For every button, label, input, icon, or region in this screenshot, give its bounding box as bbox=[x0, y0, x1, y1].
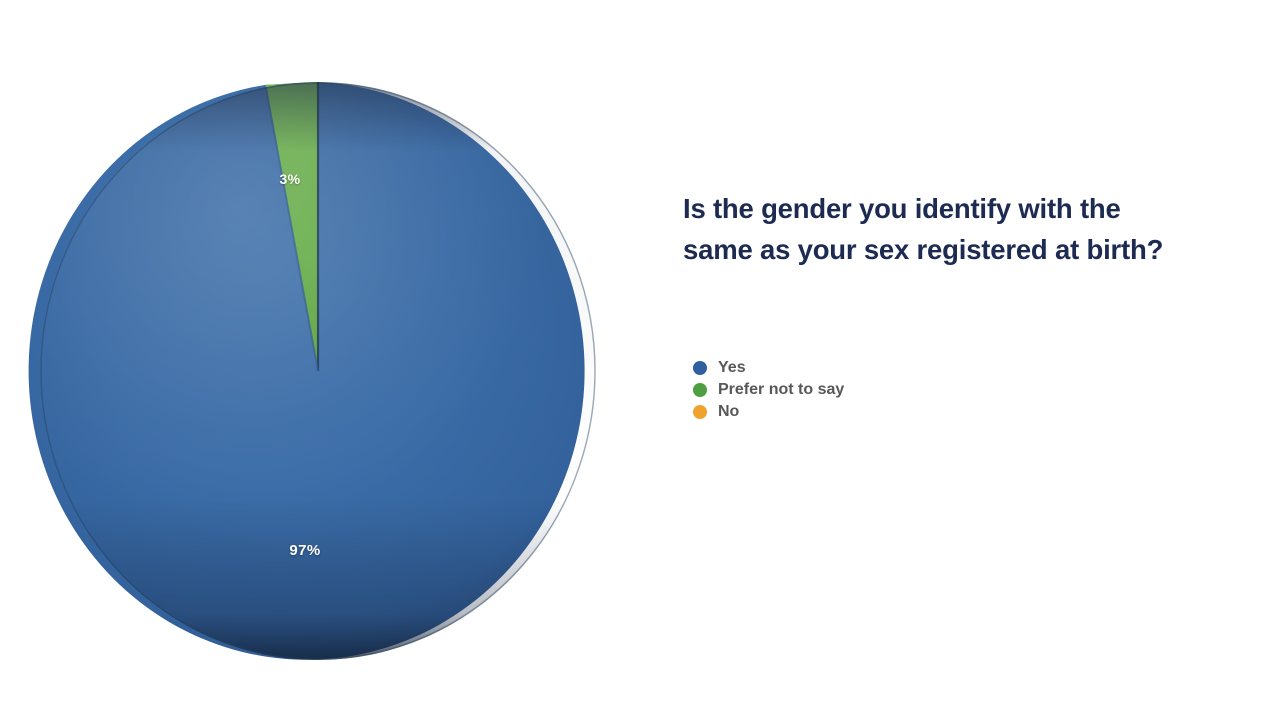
legend-item-no[interactable]: No bbox=[693, 401, 844, 423]
pie-chart: 97% 3% bbox=[0, 0, 650, 720]
chart-legend: Yes Prefer not to say No bbox=[693, 357, 844, 423]
legend-swatch-no bbox=[693, 405, 707, 419]
pie-chart-svg bbox=[0, 0, 650, 720]
legend-label-prefer-not-to-say: Prefer not to say bbox=[718, 379, 844, 401]
legend-item-yes[interactable]: Yes bbox=[693, 357, 844, 379]
pie-gloss-highlight bbox=[40, 82, 596, 660]
legend-label-yes: Yes bbox=[718, 357, 746, 379]
text-panel: Is the gender you identify with the same… bbox=[683, 0, 1243, 720]
slide-canvas: 97% 3% Is the gender you identify with t… bbox=[0, 0, 1280, 720]
legend-label-no: No bbox=[718, 401, 739, 423]
chart-title-line-2: same as your sex registered at birth? bbox=[683, 229, 1228, 270]
chart-title-line-1: Is the gender you identify with the bbox=[683, 188, 1228, 229]
legend-swatch-yes bbox=[693, 361, 707, 375]
legend-item-prefer-not-to-say[interactable]: Prefer not to say bbox=[693, 379, 844, 401]
chart-title: Is the gender you identify with the same… bbox=[683, 188, 1228, 270]
legend-swatch-prefer-not-to-say bbox=[693, 383, 707, 397]
